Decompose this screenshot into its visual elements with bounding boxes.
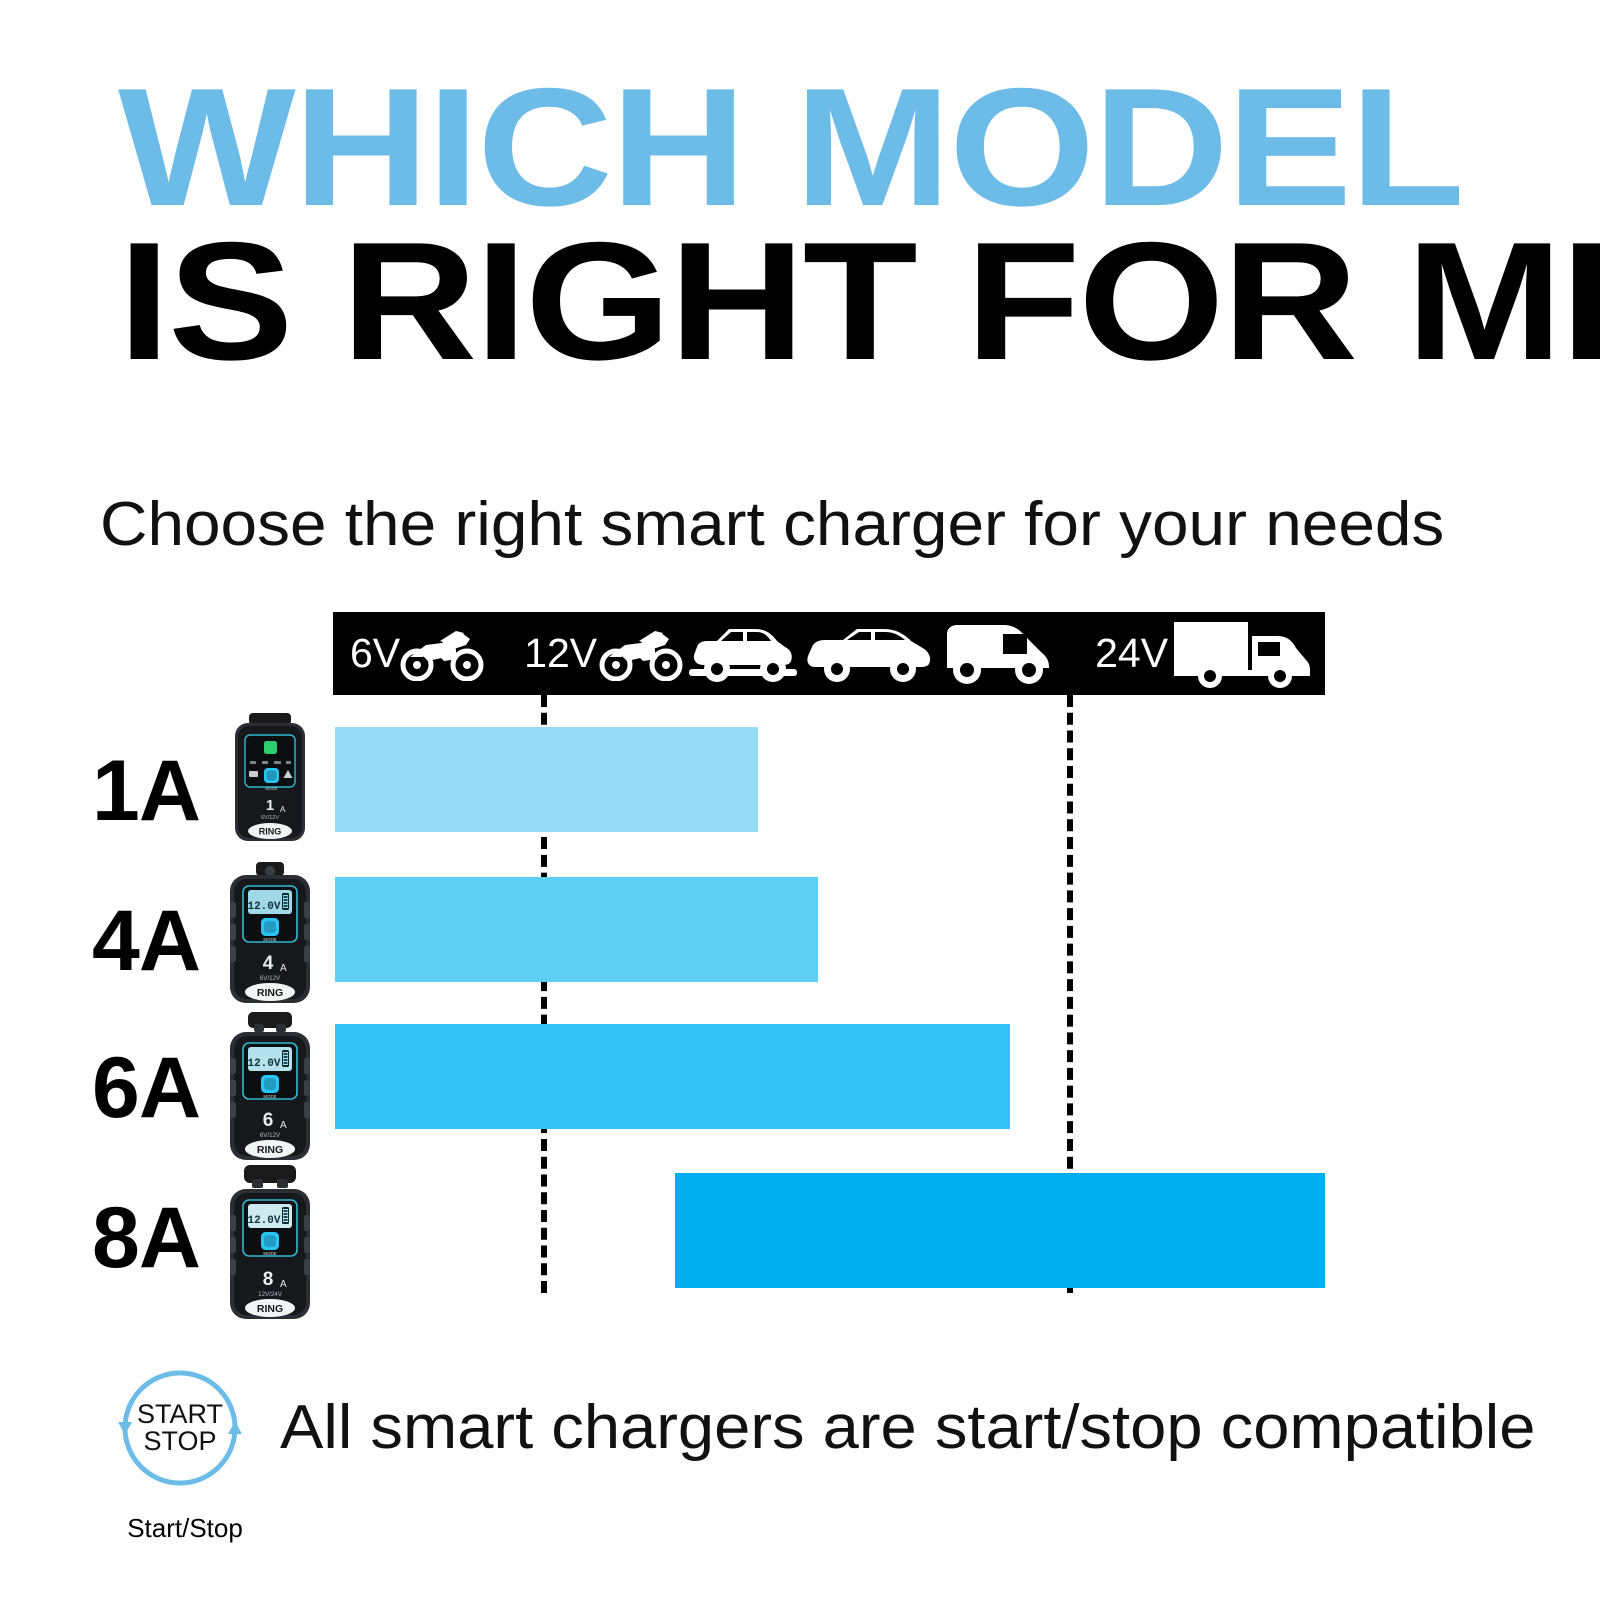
voltage-group-6v: 6V	[350, 627, 484, 681]
product-image-1a: MODE 1 A 6V/12V RING	[231, 713, 309, 843]
svg-text:RING: RING	[259, 827, 282, 837]
charger-comparison-chart: 6V 12V	[0, 0, 1600, 1600]
hatchback-car-icon	[689, 625, 797, 683]
amp-label-1a: 1A	[92, 748, 200, 834]
start-stop-badge: START STOP	[115, 1363, 245, 1493]
motorcycle-icon	[400, 627, 484, 681]
voltage-header-bar: 6V 12V	[333, 612, 1325, 695]
van-icon	[941, 620, 1053, 688]
start-stop-badge-line1: START	[115, 1401, 245, 1428]
product-image-4a: 12.0V MODE 4 A 6V/12V RING	[224, 862, 316, 1008]
start-stop-caption: Start/Stop	[110, 1513, 260, 1544]
voltage-label-6v: 6V	[350, 633, 400, 674]
voltage-label-12v: 12V	[524, 633, 597, 674]
amp-label-8a: 8A	[92, 1195, 200, 1281]
amp-label-4a: 4A	[92, 898, 200, 984]
svg-text:12.0V: 12.0V	[247, 1215, 280, 1227]
svg-text:4: 4	[263, 953, 274, 974]
svg-text:A: A	[280, 1279, 287, 1290]
voltage-group-12v: 12V	[524, 620, 1053, 688]
amp-label-6a: 6A	[92, 1045, 200, 1131]
svg-text:RING: RING	[257, 987, 283, 999]
bar-4a	[335, 877, 818, 982]
svg-text:A: A	[280, 963, 287, 974]
sedan-car-icon	[805, 625, 933, 683]
bar-6a	[335, 1024, 1010, 1129]
voltage-group-24v: 24V	[1095, 620, 1310, 688]
svg-text:RING: RING	[257, 1144, 283, 1156]
product-image-8a: 12.0V MODE 8 A 12V/24V RING	[224, 1165, 316, 1323]
svg-text:A: A	[280, 1120, 287, 1131]
svg-text:12.0V: 12.0V	[247, 901, 280, 913]
svg-text:6V/12V: 6V/12V	[260, 975, 281, 982]
start-stop-badge-line2: STOP	[115, 1428, 245, 1455]
motorcycle-icon	[599, 627, 683, 681]
svg-text:8: 8	[263, 1269, 274, 1290]
svg-text:A: A	[280, 805, 286, 814]
svg-text:6V/12V: 6V/12V	[260, 1132, 281, 1139]
truck-icon	[1174, 620, 1310, 688]
svg-text:6V/12V: 6V/12V	[261, 815, 279, 821]
svg-text:6: 6	[263, 1110, 274, 1131]
svg-text:MODE: MODE	[263, 937, 276, 942]
svg-text:MODE: MODE	[263, 1251, 276, 1256]
bar-8a	[675, 1173, 1325, 1288]
start-stop-statement: All smart chargers are start/stop compat…	[280, 1392, 1535, 1463]
svg-text:12V/24V: 12V/24V	[258, 1291, 283, 1298]
svg-text:MODE: MODE	[263, 1094, 276, 1099]
voltage-label-24v: 24V	[1095, 633, 1168, 674]
bar-1a	[335, 727, 758, 832]
svg-text:MODE: MODE	[266, 786, 278, 791]
svg-text:12.0V: 12.0V	[247, 1058, 280, 1070]
svg-text:1: 1	[266, 797, 274, 814]
svg-text:RING: RING	[257, 1303, 283, 1315]
product-image-6a: 12.0V MODE 6 A 6V/12V RING	[224, 1012, 316, 1164]
